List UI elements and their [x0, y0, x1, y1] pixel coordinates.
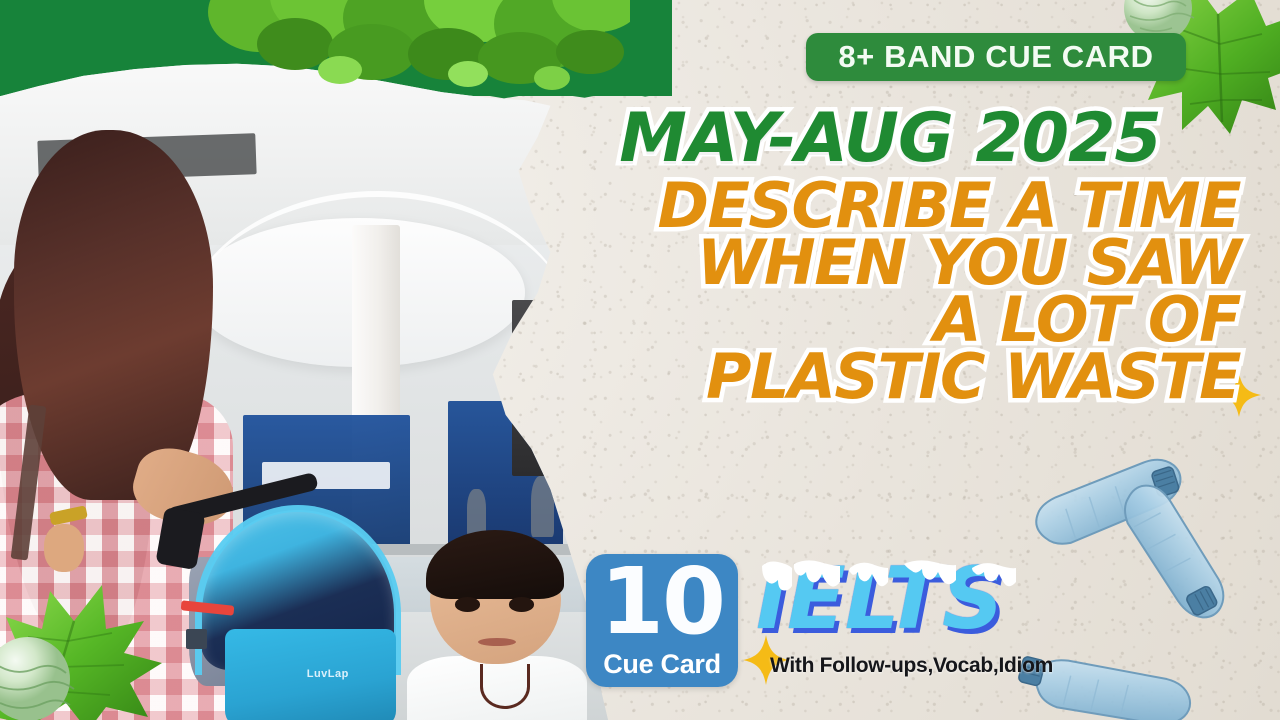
- woman-hair-front: [14, 130, 214, 500]
- brand-tagline: With Follow-ups,Vocab,Idiom: [770, 654, 1053, 678]
- baby-figure: [403, 530, 595, 720]
- baby-necklace: [480, 664, 530, 709]
- headline-date: MAY-AUG 2025: [540, 106, 1240, 173]
- globe-leaf-icon: [0, 567, 174, 720]
- thumbnail-canvas: LuvLap: [0, 0, 1280, 720]
- band-badge-label: 8+ BAND CUE CARD: [838, 39, 1153, 75]
- cue-card-count-box: 10 Cue Card: [586, 554, 738, 687]
- stroller-clip: [186, 629, 207, 650]
- brand-logo-row: 10 Cue Card IELTS With Follow-ups,Vocab,…: [586, 548, 1056, 696]
- tree-foliage-icon: [200, 0, 630, 116]
- band-badge[interactable]: 8+ BAND CUE CARD: [806, 33, 1186, 81]
- headline-line-4: PLASTIC WASTE: [540, 348, 1240, 405]
- baby-eye: [455, 597, 480, 611]
- cue-card-count: 10: [586, 556, 738, 648]
- ielts-text: IELTS: [756, 556, 1056, 642]
- cue-card-label: Cue Card: [586, 649, 738, 680]
- baby-hair: [426, 530, 564, 599]
- baby-eye: [509, 597, 534, 611]
- ielts-wordmark: IELTS: [756, 556, 1056, 654]
- woman-hand: [44, 524, 84, 572]
- headline-main: DESCRIBE A TIME WHEN YOU SAW A LOT OF PL…: [540, 177, 1240, 405]
- headline-block: MAY-AUG 2025 DESCRIBE A TIME WHEN YOU SA…: [540, 106, 1240, 405]
- stroller-brand-label: LuvLap: [290, 665, 367, 683]
